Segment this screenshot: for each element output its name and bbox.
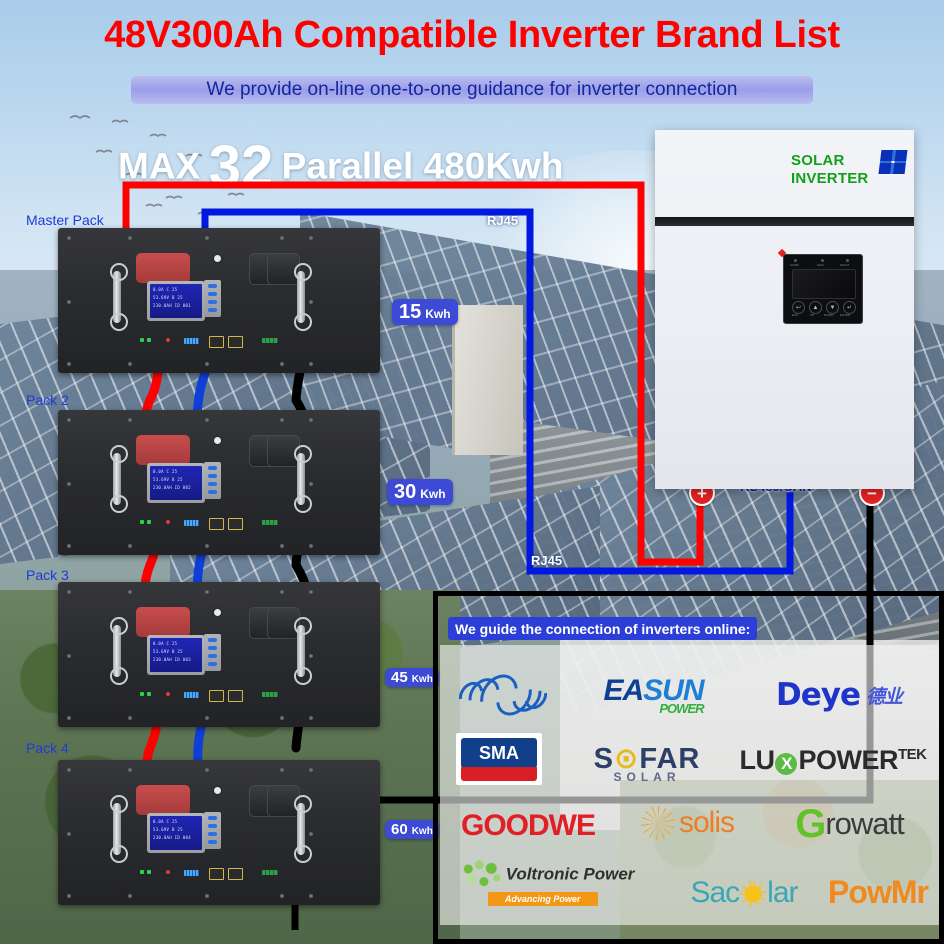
guide-banner: We guide the connection of inverters onl…: [448, 617, 757, 640]
pack-handle[interactable]: [113, 803, 121, 855]
lux-power-text: POWER: [798, 745, 898, 775]
lux-x-icon: X: [775, 753, 797, 775]
sma-red-swoosh: [461, 767, 537, 781]
voltronic-tagline: Advancing Power: [488, 892, 598, 906]
status-indicator-dot: [214, 609, 221, 616]
solar-panel-logo-icon: [879, 150, 908, 174]
pack-label-master: Master Pack: [26, 212, 104, 228]
poster-canvas: 48V300Ah Compatible Inverter Brand List …: [0, 0, 944, 944]
lux-lu-text: LU: [739, 745, 774, 775]
status-indicator-dot: [214, 437, 221, 444]
capacity-badge-4: 60 Kwh: [385, 820, 439, 839]
inverter-brand-mark: SOLAR INVERTER: [791, 152, 906, 202]
pack-label-4: Pack 4: [26, 740, 69, 756]
pack-handle[interactable]: [113, 271, 121, 323]
growatt-rest-text: rowatt: [825, 806, 903, 841]
rj45-port-in-icon: [209, 868, 224, 880]
pack-handle[interactable]: [297, 271, 305, 323]
rj45-label-top: RJ45: [487, 213, 518, 228]
down-label: DOWN: [824, 313, 834, 317]
sacolar-lar-text: lar: [767, 876, 797, 909]
indicator-led-row: [140, 520, 300, 528]
guide-banner-text: We guide the connection of inverters onl…: [455, 621, 750, 637]
logo-sacolar[interactable]: Saclar: [674, 872, 814, 914]
logo-luxpower-tek[interactable]: LUXPOWERTEK: [733, 740, 933, 780]
powmr-text: PowMr: [828, 874, 928, 911]
rs485-port-icon: [184, 520, 199, 526]
growatt-g-text: G: [795, 802, 825, 846]
indicator-led-row: [140, 870, 300, 878]
rs485-port-icon: [184, 338, 199, 344]
logo-solis[interactable]: solis: [620, 800, 755, 846]
bms-lcd-display: 0.0A C 25 53.69V B 25 230.0AH ID 001: [147, 281, 205, 321]
solar-inverter-unit[interactable]: SOLAR INVERTER AC/DC CHG FAULT ↩ ▲ ▼ ↵ E…: [655, 130, 914, 489]
bms-lcd-display: 0.0A C 25 53.69V B 25 230.0AH ID 004: [147, 813, 205, 853]
rj45-port-out-icon: [228, 690, 243, 702]
sma-mark: SMA: [456, 733, 542, 785]
up-label: UP: [810, 313, 814, 317]
logo-deye[interactable]: Deye 德业: [749, 673, 929, 717]
deye-chinese-text: 德业: [866, 682, 902, 709]
battery-pack-2[interactable]: 0.0A C 25 53.69V B 25 230.0AH ID 002: [58, 410, 380, 555]
rs485-port-icon: [184, 692, 199, 698]
rj45-port-in-icon: [209, 518, 224, 530]
lcd-button-strip[interactable]: [204, 634, 221, 671]
inverter-control-panel[interactable]: AC/DC CHG FAULT ↩ ▲ ▼ ↵ ESC UP DOWN ENTE…: [783, 254, 863, 324]
indicator-led-row: [140, 692, 300, 700]
lcd-button-strip[interactable]: [204, 280, 221, 317]
battery-pack-4[interactable]: 0.0A C 25 53.69V B 25 230.0AH ID 004: [58, 760, 380, 905]
terminal-positive[interactable]: [159, 785, 190, 815]
rj45-port-in-icon: [209, 690, 224, 702]
rj45-port-out-icon: [228, 868, 243, 880]
lcd-button-strip[interactable]: [204, 462, 221, 499]
bms-lcd-display: 0.0A C 25 53.69V B 25 230.0AH ID 002: [147, 463, 205, 503]
capacity-badge-2: 30 Kwh: [387, 479, 453, 505]
easun-ea-text: EA: [603, 674, 643, 707]
sacolar-sac-text: Sac: [690, 876, 739, 909]
inverter-vent-strip: [655, 217, 914, 226]
led-label-fault: FAULT: [840, 263, 849, 267]
led-label-acdc: AC/DC: [790, 263, 799, 267]
battery-pack-3[interactable]: 0.0A C 25 53.69V B 25 230.0AH ID 003: [58, 582, 380, 727]
voltronic-text: Voltronic Power: [506, 864, 635, 883]
logo-powmr[interactable]: PowMr: [818, 871, 938, 913]
terminal-positive[interactable]: [159, 607, 190, 637]
inverter-lcd-screen: [792, 269, 856, 299]
pack-label-3: Pack 3: [26, 567, 69, 583]
esc-label: ESC: [792, 313, 798, 317]
logo-growatt[interactable]: Growatt: [762, 802, 937, 846]
led-label-chg: CHG: [817, 263, 824, 267]
sma-text: SMA: [461, 738, 537, 768]
victron-arcs-icon: [458, 671, 542, 717]
sacolar-sun-icon: [740, 881, 766, 907]
solis-sun-icon: [641, 806, 675, 840]
enter-label: ENTER: [840, 313, 850, 317]
sofar-s-text: S: [594, 743, 614, 775]
logo-sofar-solar[interactable]: S⊙FAR SOLAR: [572, 740, 722, 784]
capacity-badge-master: 15 Kwh: [392, 299, 458, 325]
logo-victron-energy[interactable]: [452, 670, 547, 718]
pack-handle[interactable]: [113, 453, 121, 505]
rj45-port-out-icon: [228, 518, 243, 530]
rs485-port-icon: [184, 870, 199, 876]
battery-pack-master[interactable]: 0.0A C 25 53.69V B 25 230.0AH ID 001: [58, 228, 380, 373]
pack-handle[interactable]: [297, 453, 305, 505]
rj45-port-in-icon: [209, 336, 224, 348]
pack-handle[interactable]: [297, 625, 305, 677]
bms-lcd-display: 0.0A C 25 53.69V B 25 230.0AH ID 003: [147, 635, 205, 675]
solis-text: solis: [679, 806, 734, 839]
deye-text: Deye: [776, 677, 860, 713]
logo-voltronic-power[interactable]: Voltronic Power Advancing Power: [452, 855, 642, 911]
rj45-port-out-icon: [228, 336, 243, 348]
status-indicator-dot: [214, 255, 221, 262]
inverter-status-leds: AC/DC CHG FAULT: [790, 259, 856, 269]
indicator-led-row: [140, 338, 300, 346]
logo-sma[interactable]: SMA: [456, 733, 542, 785]
lux-tek-text: TEK: [898, 746, 927, 763]
voltronic-dots-icon: [460, 860, 506, 890]
rj45-label-bottom: RJ45: [531, 553, 562, 568]
logo-goodwe[interactable]: GOODWE: [448, 805, 608, 847]
status-indicator-dot: [214, 787, 221, 794]
goodwe-text: GOODWE: [461, 809, 595, 843]
pack-handle[interactable]: [297, 803, 305, 855]
inverter-keypad[interactable]: ↩ ▲ ▼ ↵ ESC UP DOWN ENTER: [792, 301, 854, 319]
terminal-positive[interactable]: [159, 435, 190, 465]
pack-label-2: Pack 2: [26, 392, 69, 408]
terminal-positive[interactable]: [159, 253, 190, 283]
logo-easun-power[interactable]: EASUN POWER: [586, 672, 721, 717]
lcd-button-strip[interactable]: [204, 812, 221, 849]
capacity-badge-3: 45 Kwh: [385, 668, 439, 687]
pack-handle[interactable]: [113, 625, 121, 677]
